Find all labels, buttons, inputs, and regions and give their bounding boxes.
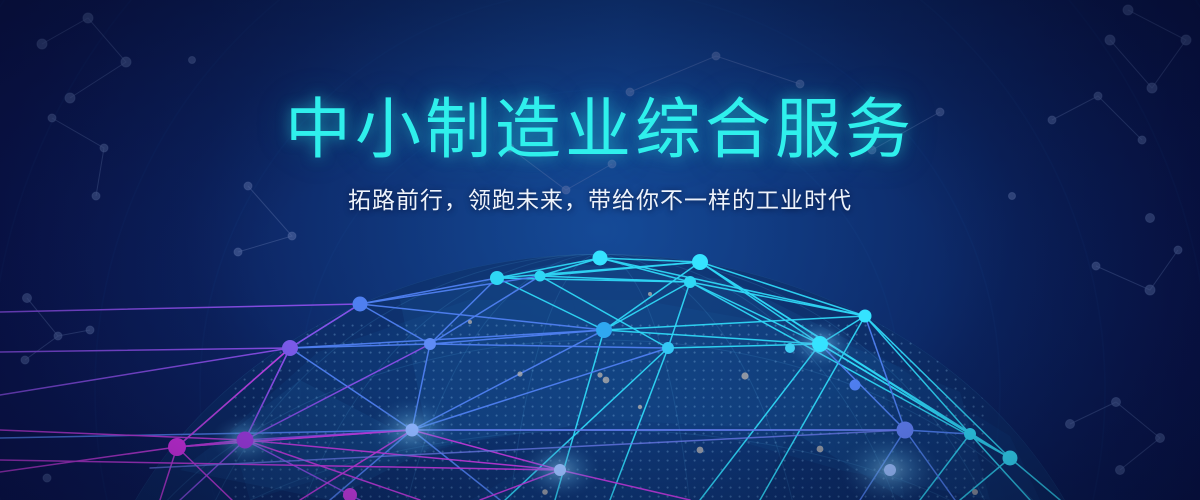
- page-subtitle: 拓路前行，领跑未来，带给你不一样的工业时代: [0, 181, 1200, 215]
- network-nodes: [0, 0, 1200, 500]
- hero-banner: 中小制造业综合服务 拓路前行，领跑未来，带给你不一样的工业时代: [0, 0, 1200, 500]
- page-title: 中小制造业综合服务: [0, 96, 1200, 162]
- hero-text-block: 中小制造业综合服务 拓路前行，领跑未来，带给你不一样的工业时代: [0, 96, 1200, 215]
